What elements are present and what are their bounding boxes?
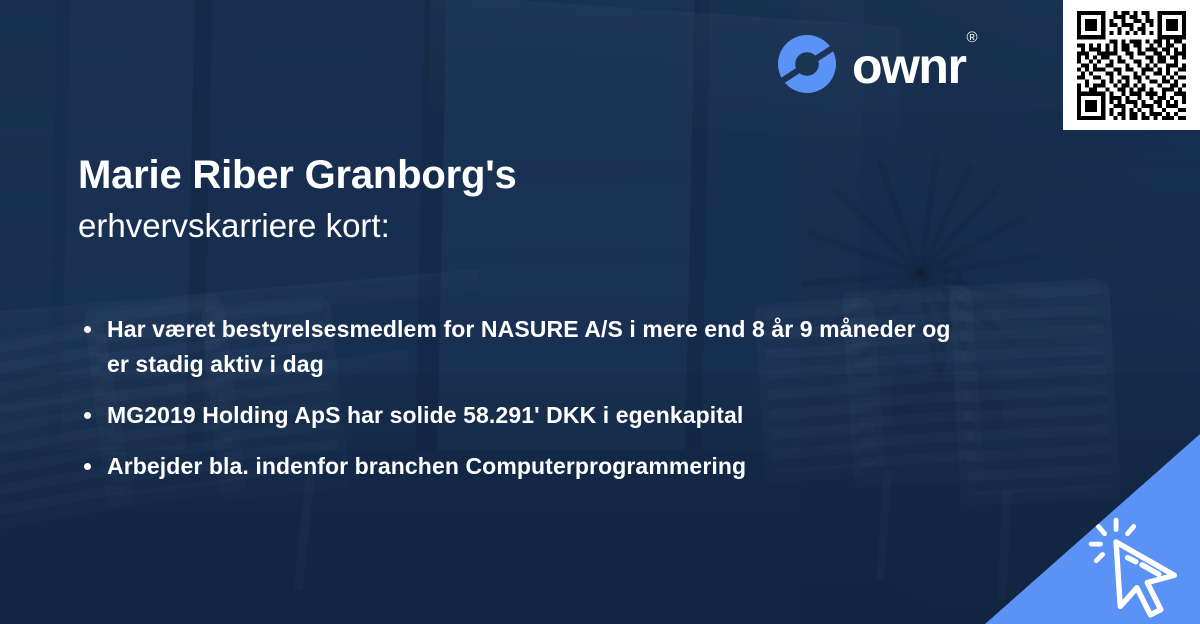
click-cursor-icon [1088,516,1192,620]
list-item: MG2019 Holding ApS har solide 58.291' DK… [82,398,962,433]
ownr-wordmark: ownr® [852,41,975,91]
headline-name: Marie Riber Granborg's [78,152,778,199]
qr-code-panel[interactable] [1063,0,1200,130]
ownr-wordmark-text: ownr [852,38,965,94]
trademark-symbol: ® [966,29,976,46]
ownr-business-card-banner: Marie Riber Granborg's erhvervskarriere … [0,0,1200,624]
qr-code-icon [1073,7,1190,124]
ownr-logo[interactable]: ownr® [776,33,975,95]
career-facts-list: Har været bestyrelsesmedlem for NASURE A… [82,312,962,484]
list-item: Har været bestyrelsesmedlem for NASURE A… [82,312,962,382]
list-item: Arbejder bla. indenfor branchen Computer… [82,449,962,484]
headline-subtitle: erhvervskarriere kort: [78,205,778,246]
page-title: Marie Riber Granborg's erhvervskarriere … [78,152,778,246]
ownr-circle-slash-icon [776,33,838,95]
